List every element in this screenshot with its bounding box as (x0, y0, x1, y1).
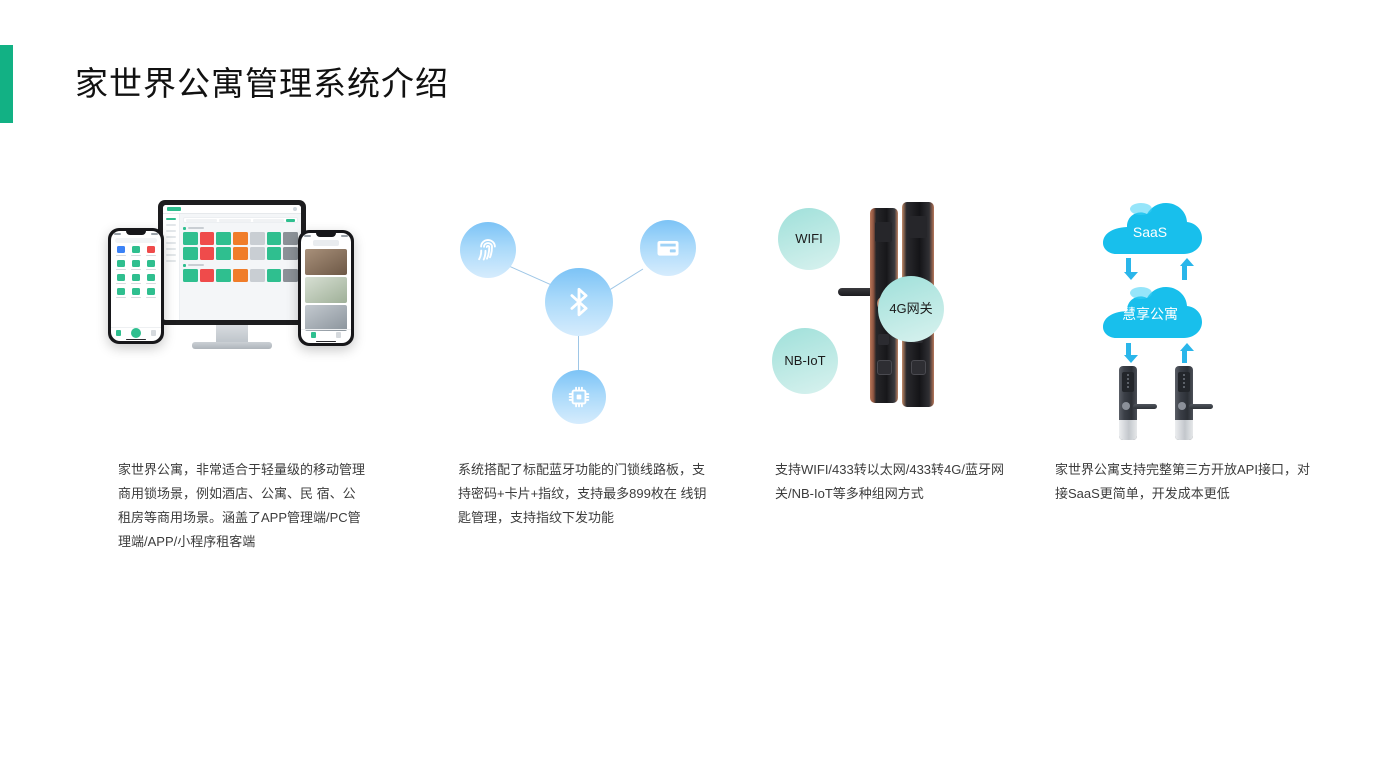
feature-column-networking: WIFI 4G网关 NB-IoT 支持WIFI/433转以太网/433转4G/蓝… (760, 180, 1060, 600)
door-lock-handle-right (1189, 404, 1213, 409)
phone-notch-icon (126, 231, 146, 235)
room-status-tile (233, 232, 248, 245)
app-tab-bar (111, 327, 161, 338)
home-indicator-icon (126, 339, 146, 341)
app-feature-icon (130, 246, 143, 257)
bubble-label: 4G网关 (889, 301, 932, 317)
network-bubble-nbiot: NB-IoT (772, 328, 838, 394)
illustration-bluetooth-hub (440, 180, 740, 445)
room-status-tile (183, 269, 198, 282)
room-status-tile (233, 247, 248, 260)
app-feature-icon (115, 288, 128, 299)
bubble-label: NB-IoT (784, 353, 825, 369)
room-status-tile (283, 269, 298, 282)
room-status-tile (200, 247, 215, 260)
room-status-tile (200, 269, 215, 282)
room-photo (305, 277, 347, 303)
phone-notch-icon (316, 233, 336, 237)
network-bubble-wifi: WIFI (778, 208, 840, 270)
room-status-grid (183, 232, 298, 260)
phone-tenant-app (298, 230, 354, 346)
app-search-bar (115, 238, 157, 243)
fingerprint-icon (460, 222, 516, 278)
room-status-tile (233, 269, 248, 282)
feature-columns: 家世界公寓，非常适合于轻量级的移动管理商用锁场景，例如酒店、公寓、民 宿、公租房… (0, 180, 1390, 600)
room-photo (305, 249, 347, 275)
chip-icon (552, 370, 606, 424)
room-status-tile (283, 232, 298, 245)
feature-caption: 家世界公寓支持完整第三方开放API接口，对接SaaS更简单，开发成本更低 (1055, 458, 1310, 506)
hub-link-line (510, 266, 554, 286)
title-accent-bar (0, 45, 13, 123)
feature-caption: 系统搭配了标配蓝牙功能的门锁线路板，支持密码+卡片+指纹，支持最多899枚在 线… (458, 458, 708, 530)
app-page-title (313, 240, 339, 246)
room-status-grid-secondary (183, 269, 298, 282)
illustration-saas-architecture: SaaS 慧享公寓 (1040, 180, 1340, 445)
room-status-tile (183, 247, 198, 260)
illustration-devices (100, 180, 400, 445)
room-status-tile (267, 247, 282, 260)
bubble-label: WIFI (795, 231, 822, 247)
room-status-tile (250, 247, 265, 260)
cloud-saas: SaaS (1098, 192, 1202, 254)
room-status-tile (200, 232, 215, 245)
app-feature-icon (115, 260, 128, 271)
arrow-down-to-lock (1124, 343, 1132, 363)
bluetooth-icon (545, 268, 613, 336)
feature-column-bluetooth-board: 系统搭配了标配蓝牙功能的门锁线路板，支持密码+卡片+指纹，支持最多899枚在 线… (440, 180, 740, 600)
app-tab-bar (301, 329, 351, 340)
app-feature-icon (115, 274, 128, 285)
room-status-tile (283, 247, 298, 260)
illustration-smart-lock-network: WIFI 4G网关 NB-IoT (760, 180, 1060, 445)
door-lock-left (1119, 366, 1137, 440)
feature-caption: 家世界公寓，非常适合于轻量级的移动管理商用锁场景，例如酒店、公寓、民 宿、公租房… (118, 458, 368, 554)
room-status-tile (216, 232, 231, 245)
app-feature-icon (144, 274, 157, 285)
home-indicator-icon (316, 341, 336, 343)
room-photo (305, 305, 347, 331)
room-status-tile (250, 232, 265, 245)
room-status-tile (267, 232, 282, 245)
room-status-tile (183, 232, 198, 245)
room-status-tile (267, 269, 282, 282)
cloud-huixiang-apartment: 慧享公寓 (1098, 276, 1202, 338)
app-feature-icon (130, 274, 143, 285)
app-feature-icon (144, 288, 157, 299)
hub-link-line (578, 336, 579, 372)
door-lock-handle-left (1133, 404, 1157, 409)
app-feature-icon (130, 260, 143, 271)
desktop-monitor-icon (158, 200, 306, 325)
feature-column-mobile-management: 家世界公寓，非常适合于轻量级的移动管理商用锁场景，例如酒店、公寓、民 宿、公租房… (100, 180, 400, 600)
arrow-up-from-lock (1180, 343, 1188, 363)
phone-admin-app (108, 228, 164, 344)
feature-caption: 支持WIFI/433转以太网/433转4G/蓝牙网关/NB-IoT等多种组网方式 (775, 458, 1030, 506)
monitor-avatar-icon (293, 207, 297, 211)
app-feature-icon (144, 260, 157, 271)
monitor-stand-neck (216, 325, 248, 342)
room-status-tile (250, 269, 265, 282)
monitor-sidebar (163, 214, 180, 320)
card-reader-icon (640, 220, 696, 276)
cloud-label: SaaS (1133, 224, 1167, 240)
feature-column-open-api: SaaS 慧享公寓 (1040, 180, 1340, 600)
monitor-stand-base (192, 342, 272, 349)
page-title: 家世界公寓管理系统介绍 (75, 57, 449, 105)
app-feature-grid (111, 246, 161, 299)
room-status-tile (216, 269, 231, 282)
app-feature-icon (144, 246, 157, 257)
door-lock-right (1175, 366, 1193, 440)
room-status-tile (216, 247, 231, 260)
cloud-label: 慧享公寓 (1122, 304, 1178, 324)
monitor-logo-icon (167, 207, 181, 211)
app-feature-icon (115, 246, 128, 257)
network-bubble-4g-gateway: 4G网关 (878, 276, 944, 342)
app-feature-icon (130, 288, 143, 299)
